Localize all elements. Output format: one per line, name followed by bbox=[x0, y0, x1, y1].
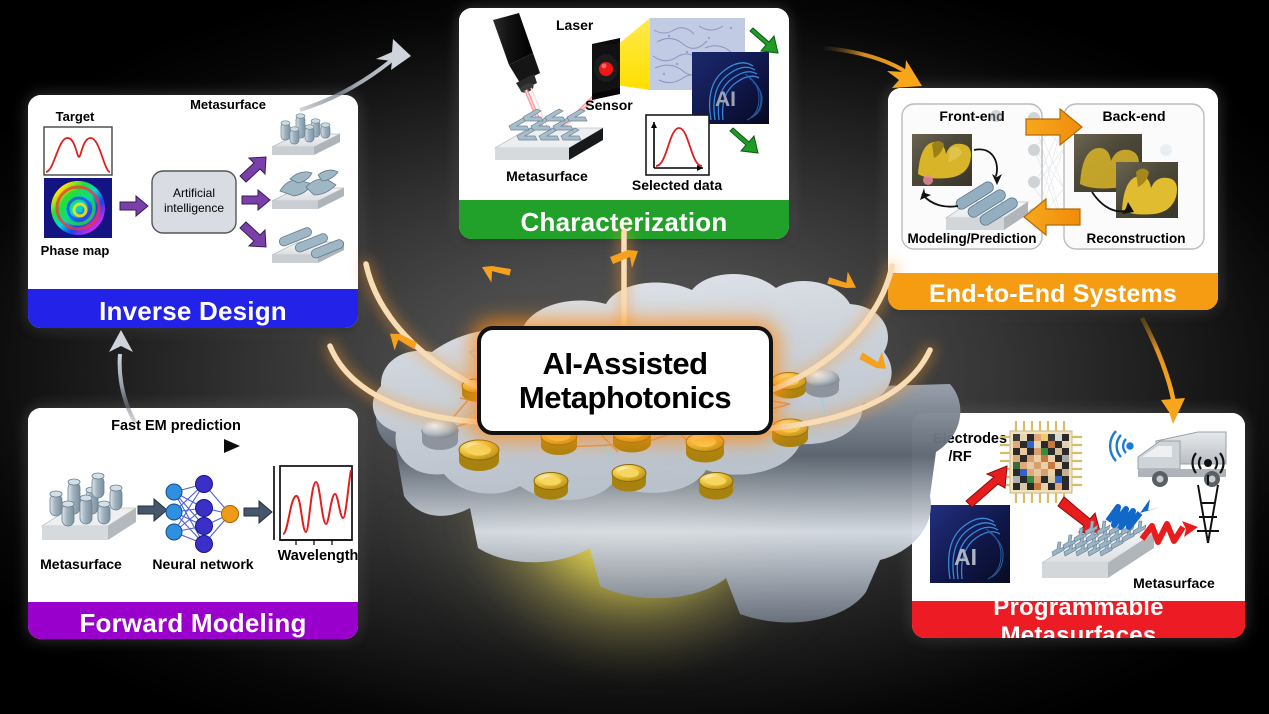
panel-inverse-design[interactable]: Metasurface Target Phase map bbox=[28, 95, 358, 328]
inverse-design-illustration: Metasurface Target Phase map bbox=[28, 95, 358, 284]
panel-programmable-metasurfaces[interactable]: Electrodes /RF AI bbox=[912, 413, 1245, 638]
prog-blue-beam bbox=[1108, 499, 1160, 527]
characterization-metasurface bbox=[495, 109, 603, 160]
center-title-box: AI-Assisted Metaphotonics bbox=[477, 326, 773, 435]
end-to-end-illustration: Front-end Back-end bbox=[888, 88, 1218, 268]
forward-modeling-illustration: Fast EM prediction bbox=[28, 408, 358, 597]
prog-truck bbox=[1138, 432, 1226, 487]
inverse-meta-pillars bbox=[272, 114, 340, 155]
selected-data-plot bbox=[646, 115, 709, 175]
prog-ai-label: AI bbox=[954, 544, 977, 570]
characterization-illustration: Laser Sensor bbox=[459, 8, 789, 195]
inverse-meta-bars bbox=[272, 226, 345, 263]
inverse-metasurface-label: Metasurface bbox=[190, 97, 266, 112]
prog-coded-chip bbox=[1000, 421, 1082, 503]
chip-glow-outer bbox=[400, 500, 870, 714]
prog-electrodes-line1: Electrodes bbox=[933, 431, 1007, 447]
inverse-phasemap-label: Phase map bbox=[41, 243, 110, 258]
panel-programmable-metasurfaces-body: Electrodes /RF AI bbox=[912, 413, 1245, 601]
center-title-line1: AI-Assisted bbox=[542, 347, 707, 380]
prog-ai-box: AI bbox=[930, 505, 1010, 583]
figure-canvas: AI-Assisted Metaphotonics bbox=[0, 0, 1269, 714]
inverse-target-label: Target bbox=[56, 109, 95, 124]
panel-characterization[interactable]: Laser Sensor bbox=[459, 8, 789, 239]
panel-forward-modeling-body: Fast EM prediction bbox=[28, 408, 358, 602]
characterization-sensor-label: Sensor bbox=[585, 97, 633, 113]
chip-glow-beam bbox=[470, 470, 800, 714]
panel-characterization-body: Laser Sensor bbox=[459, 8, 789, 200]
arrow-characterization-to-endtoend bbox=[824, 48, 922, 88]
characterization-laser-label: Laser bbox=[556, 17, 594, 33]
inverse-ai-line1: Artificial bbox=[173, 186, 215, 200]
prog-antenna-tower bbox=[1192, 453, 1223, 543]
panel-end-to-end-systems-body: Front-end Back-end bbox=[888, 88, 1218, 273]
inverse-meta-freeform bbox=[272, 170, 344, 209]
panel-end-to-end-systems[interactable]: Front-end Back-end bbox=[888, 88, 1218, 310]
panel-forward-modeling[interactable]: Fast EM prediction bbox=[28, 408, 358, 639]
fm-wavelength-label: Wavelength bbox=[278, 548, 358, 564]
panel-inverse-design-title: Inverse Design bbox=[28, 289, 358, 328]
e2e-input-image bbox=[912, 134, 972, 186]
e2e-reconstruction-label: Reconstruction bbox=[1086, 231, 1185, 246]
characterization-ai-label: AI bbox=[715, 88, 736, 111]
fm-metasurface-label: Metasurface bbox=[40, 556, 122, 572]
laser-source bbox=[493, 13, 540, 95]
sensor bbox=[592, 38, 620, 100]
panel-inverse-design-body: Metasurface Target Phase map bbox=[28, 95, 358, 289]
ai-face-box: AI bbox=[692, 52, 769, 124]
fm-spectrum-plot bbox=[274, 466, 352, 545]
center-title-line2: Metaphotonics bbox=[519, 381, 731, 414]
prog-wifi-icon bbox=[1110, 431, 1132, 461]
prog-arrow-ai-to-chip bbox=[966, 466, 1007, 507]
characterization-metasurface-label: Metasurface bbox=[506, 168, 588, 184]
fm-neuralnetwork-label: Neural network bbox=[152, 556, 253, 572]
panel-forward-modeling-title: Forward Modeling bbox=[28, 602, 358, 639]
fm-neural-network bbox=[166, 476, 239, 553]
panel-programmable-metasurfaces-title: Programmable Metasurfaces bbox=[912, 601, 1245, 638]
arrow-endtoend-to-programmable bbox=[1142, 318, 1185, 424]
prog-metasurface-label: Metasurface bbox=[1133, 575, 1215, 591]
fm-metasurface bbox=[42, 473, 136, 540]
e2e-modeling-label: Modeling/Prediction bbox=[907, 231, 1036, 246]
inverse-ai-line2: intelligence bbox=[164, 201, 224, 215]
panel-end-to-end-systems-title: End-to-End Systems bbox=[888, 273, 1218, 310]
e2e-backend-label: Back-end bbox=[1102, 108, 1165, 124]
characterization-selecteddata-label: Selected data bbox=[632, 177, 722, 193]
panel-characterization-title: Characterization bbox=[459, 200, 789, 239]
prog-electrodes-line2: /RF bbox=[948, 449, 972, 465]
fm-fastem-label: Fast EM prediction bbox=[111, 418, 241, 434]
programmable-illustration: Electrodes /RF AI bbox=[912, 413, 1245, 596]
